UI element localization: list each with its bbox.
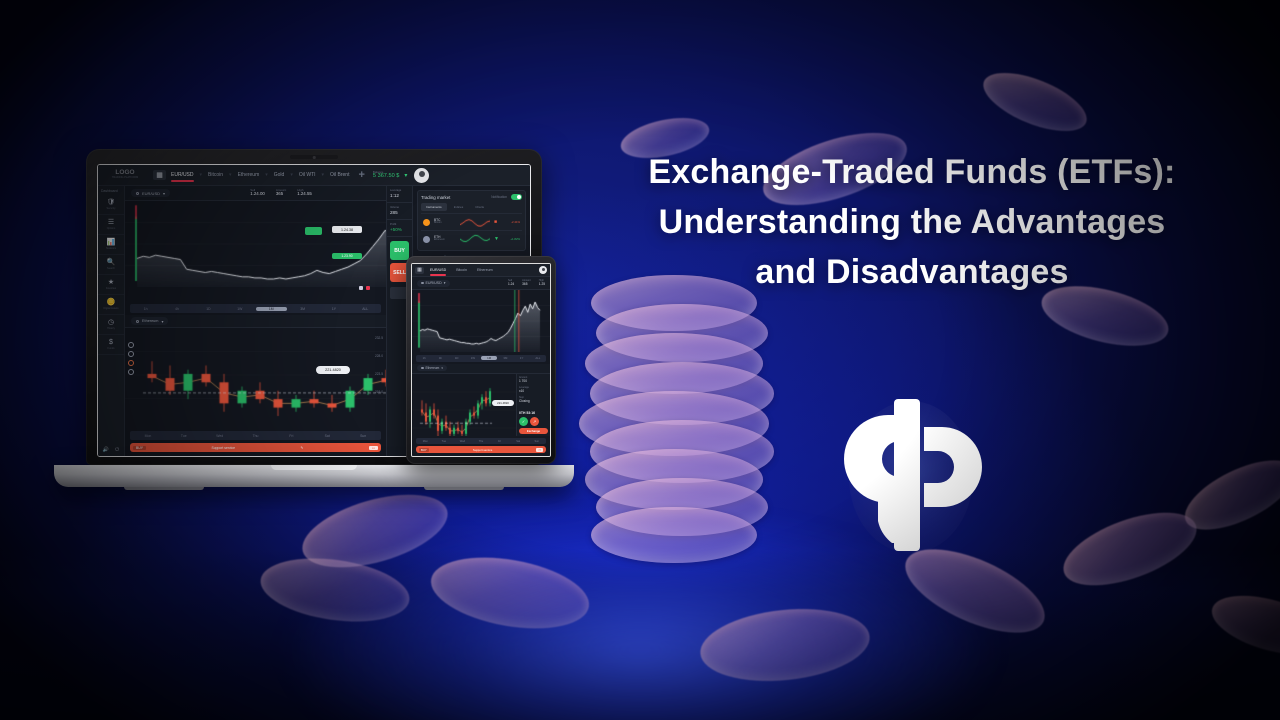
tablet-confirm-icon[interactable]: ✓ [519,417,528,426]
tablet-nav-item-ethereum[interactable]: Ethereum [477,268,493,272]
right-stat-value: 285 [390,210,409,215]
pair-label: EUR/USD [142,191,160,196]
dollar-sign-logo [840,385,982,565]
tablet-timeline-cell-3m[interactable]: 3M [497,356,513,360]
market-row-change: +1.82% [510,237,520,241]
candle-timeline-cell-fri[interactable]: Fri [273,434,309,438]
tablet-chevron2-icon: ▾ [441,366,443,370]
nav-item-oil-brent[interactable]: Oil Brent [330,172,349,178]
area-stat-high: High1.24.55 [297,189,312,197]
price-tag-top: 1.24.38 [332,226,362,233]
brand-subtitle: TRADING PLATFORM [112,177,138,180]
tablet-stat-value: x10 [519,389,548,393]
tablet-timeline-cell-1w[interactable]: 1W [465,356,481,360]
dot-red-icon [366,286,370,290]
candle-y-labels: 232.5228.0223.5219.0 [375,336,383,394]
stat-value: 1.24 [508,283,514,287]
tablet-candle-tl-cell-thu[interactable]: Thu [472,440,491,443]
sidebar-footer: 🔊 ⏻ [103,444,119,456]
sidebar-item-search[interactable]: 🔍Search [98,255,124,275]
add-instrument-button[interactable]: + [358,169,364,181]
chevron-down-icon: ▾ [163,191,165,196]
clock-icon: ◷ [108,319,114,326]
area-chart[interactable]: 1.24.38 1.23.90 [125,201,386,302]
market-row[interactable]: BTCBitcoin■-2.41% [421,213,522,230]
shield-icon: 🛡 [107,199,116,206]
tablet-right-stat-stop: StopClosing [519,396,548,403]
sidebar-item-options[interactable]: ☰Options [98,215,124,235]
candle-panel-header: Ethereum ▾ [125,315,386,328]
market-row-change: -2.41% [511,220,520,224]
candle-price-marker: 221.4820 [316,366,350,374]
sidebar: Dashboard 🛡Security☰Options📊Statistics🔍S… [98,186,125,456]
tablet-price-marker: 221.4820 [492,400,514,406]
buy-button[interactable]: BUY [390,241,409,260]
sidebar-item-statistics[interactable]: 📊Statistics [98,235,124,255]
timeline-cell-1d[interactable]: 1D [193,307,224,311]
tablet-nav-item-eur-usd[interactable]: EUR/USD [430,268,446,272]
timeline-cell-1y[interactable]: 1Y [318,307,349,311]
stat-value: 1.24.55 [297,192,312,197]
sidebar-item-history[interactable]: ◷History [98,315,124,335]
nav-separator: ▾ [229,172,232,178]
tablet-candle-chart[interactable]: 221.4820 [412,374,516,437]
timeline-cell-1h[interactable]: 1h [130,307,161,311]
candlestick-chart[interactable]: 221.4820 232.5228.0223.5219.0 [125,328,386,429]
list-icon: ☰ [108,219,114,226]
stack-coin [591,507,757,563]
title-line-3: and Disadvantages [556,248,1268,298]
tablet-chevron-icon: ▾ [444,281,446,285]
title-line-2: Understanding the Advantages [556,198,1268,248]
sidebar-item-label: Search [107,268,115,271]
area-stat-amount: Amount365 [276,189,286,197]
laptop-base [54,465,574,487]
tablet-timeline-cell-1d[interactable]: 1D [449,356,465,360]
market-row-name: BTCBitcoin [434,219,456,225]
brand-mark: LOGO [115,170,134,177]
tablet-device: ▦ EUR/USDBitcoinEthereum EUR/USD ▾ Sell1… [406,256,556,464]
candle-timeline-cell-thu[interactable]: Thu [238,434,274,438]
right-stat-value: +50% [390,227,409,232]
tool-circle-1-icon[interactable] [128,342,134,348]
nav-separator: ▾ [200,172,203,178]
tool-circle-2-icon[interactable] [128,351,134,357]
tablet-area-stat-amount: Amount365 [522,280,531,286]
market-row-sub: Bitcoin [434,222,456,225]
tablet-support-bar[interactable]: BUY Support service ▭ [416,446,546,453]
tablet-pair-dot2-icon [421,367,424,370]
candle-timeline-cell-sun[interactable]: Sun [345,434,381,438]
market-row[interactable]: ETHEthereum▼+1.82% [421,230,522,247]
trading-app-tablet: ▦ EUR/USDBitcoinEthereum EUR/USD ▾ Sell1… [412,264,550,456]
tablet-stat-value: Closing [519,399,548,403]
sidebar-items: 🛡Security☰Options📊Statistics🔍Search★Favo… [98,195,124,355]
tablet-right-stat-leverage: Leveragex10 [519,386,548,393]
tablet-timeline-cell-4h[interactable]: 4h [432,356,448,360]
tablet-area-header: EUR/USD ▾ Sell1.24Amount365High1.25 [412,277,550,290]
market-rows: BTCBitcoin■-2.41%ETHEthereum▼+1.82% [421,213,522,247]
close-icon[interactable]: ▭ [369,446,378,450]
y-axis-label: 219.0 [375,390,383,394]
candle-timeline-cell-sat[interactable]: Sat [309,434,345,438]
search-icon: 🔍 [107,259,116,266]
timeline-cell-1m[interactable]: 1M [256,307,287,311]
support-bar[interactable]: BUY Support service ✎ ▭ [130,443,381,452]
market-sparkline [460,234,490,244]
market-tab-charts[interactable]: Charts [470,203,489,211]
market-header: Trading market Notification [421,194,522,200]
nav-item-bitcoin[interactable]: Bitcoin [208,172,223,178]
sidebar-item-funds[interactable]: $Funds [98,335,124,355]
pair-label2: Ethereum [142,319,158,323]
webcam [290,155,338,159]
tablet-support-label: Support service [473,448,492,452]
tablet-pair-label: EUR/USD [426,281,442,285]
tablet-area-stat-sell: Sell1.24 [508,280,514,286]
drawing-tools[interactable] [128,342,134,375]
sidebar-item-favorites[interactable]: ★Favorites [98,275,124,295]
sidebar-heading: Dashboard [98,186,118,195]
tablet-exchange-button[interactable]: Exchange [519,428,548,434]
tablet-topbar: ▦ EUR/USDBitcoinEthereum [412,264,550,277]
area-panel-header: EUR/USD ▾ Sell1.24.00Amount365High1.24.5… [125,186,386,201]
tablet-timeline-cell-1m[interactable]: 1M [481,356,497,360]
price-tag-current [305,227,322,235]
tablet-timeline-cell-1h[interactable]: 1h [416,356,432,360]
power-icon[interactable]: ⏻ [115,447,119,453]
sidebar-item-label: Statistics [106,248,116,251]
poster-canvas: LOGO TRADING PLATFORM ▦ EUR/USD▾Bitcoin▾… [0,0,1280,720]
candle-timeline-cell-tue[interactable]: Tue [166,434,202,438]
tablet-timeline-cell-all[interactable]: ALL [530,356,546,360]
volume-icon[interactable]: 🔊 [103,447,109,453]
bar-chart-icon: 📊 [107,239,116,246]
right-stat-profit: Profit+50% [387,220,412,237]
brand-logo[interactable]: LOGO TRADING PLATFORM [102,170,148,179]
market-notify-label: Notification [491,195,507,199]
tool-circle-3-icon[interactable] [128,360,134,366]
tablet-candle-tl-cell-fri[interactable]: Fri [490,440,509,443]
tool-circle-4-icon[interactable] [128,369,134,375]
tablet-nav-item-bitcoin[interactable]: Bitcoin [456,268,467,272]
tablet-candle-tl-cell-sun[interactable]: Sun [527,440,546,443]
timeline-cell-3m[interactable]: 3M [287,307,318,311]
sidebar-item-label: History [107,328,115,331]
tablet-candle-tl-cell-tue[interactable]: Tue [435,440,454,443]
sidebar-item-label: Options [107,228,116,231]
sidebar-item-label: Favorites [106,288,116,291]
pair-dot2-icon [136,320,139,323]
right-stat-leverage: Leverage1:12 [387,186,412,203]
chevron-down2-icon: ▾ [161,319,163,324]
tablet-pair-label2: Ethereum [426,366,440,370]
support-label: Support service [211,446,235,450]
tablet-stat-value: 1 700 [519,379,548,383]
tablet-candle-tl-cell-wed[interactable]: Wed [453,440,472,443]
tablet-pair-dot-icon [421,282,424,285]
nav-item-gold[interactable]: Gold [274,172,285,178]
star-icon: ★ [108,279,114,286]
tablet-area-timeline[interactable]: 1h4h1D1W1M3M1YALL [416,355,546,362]
market-sparkline [460,217,490,227]
tablet-candle-header: Ethereum ▾ [412,364,550,374]
trend-down-icon: ■ [494,219,497,225]
area-stat-sell: Sell1.24.00 [250,189,265,197]
area-stats: Sell1.24.00Amount365High1.24.55 [250,189,312,197]
page-title: Exchange-Traded Funds (ETFs): Understand… [556,148,1268,298]
stat-value: 365 [276,192,286,197]
timeline-cell-4h[interactable]: 4h [161,307,192,311]
balance-display: Balance 5 367.50 $ [373,171,399,180]
tablet-lower: 221.4820 Amount1 700Leveragex10StopClosi… [412,374,550,437]
tablet-arrow-icon[interactable]: ↗ [530,417,539,426]
pair-selector-area[interactable]: EUR/USD ▾ [131,189,170,197]
market-title: Trading market [421,195,450,200]
eth-icon [423,236,430,243]
pair-dot-icon [136,192,139,195]
trend-up-icon: ▼ [494,236,499,242]
y-axis-label: 228.0 [375,354,383,358]
stat-value: 365 [522,283,531,287]
btc-icon [423,219,430,226]
timeline-cell-all[interactable]: ALL [350,307,381,311]
nav-separator: ▾ [265,172,268,178]
sidebar-item-label: Security [106,208,115,211]
avatar-head-icon [419,171,425,177]
stat-value: 1.24.00 [250,192,265,197]
app-topbar: LOGO TRADING PLATFORM ▦ EUR/USD▾Bitcoin▾… [98,165,530,186]
tablet-timer: 0TH 53:16 [519,411,548,415]
sidebar-item-security[interactable]: 🛡Security [98,195,124,215]
avatar-tablet[interactable] [539,266,547,274]
right-stat-volume: Volume285 [387,203,412,220]
candle-timeline-cell-mon[interactable]: Mon [130,434,166,438]
tablet-candle-tl-cell-sat[interactable]: Sat [509,440,528,443]
title-line-1: Exchange-Traded Funds (ETFs): [556,148,1268,198]
candle-timeline-cell-wed[interactable]: Wed [202,434,238,438]
tablet-screen: ▦ EUR/USDBitcoinEthereum EUR/USD ▾ Sell1… [411,263,551,457]
price-tag-bottom: 1.23.90 [332,253,362,259]
nav-item-oil-wti[interactable]: Oil WTI [299,172,316,178]
trading-market-panel: Trading market Notification InstrumentsI… [417,190,526,251]
tablet-timeline-cell-1y[interactable]: 1Y [514,356,530,360]
notify-toggle[interactable] [511,194,522,200]
market-tabs[interactable]: InstrumentsIndicesCharts [421,203,522,211]
tablet-area-chart[interactable] [412,290,550,353]
sidebar-item-digital-assets[interactable]: 🪙Digital Assets [98,295,124,315]
tablet-area-stats: Sell1.24Amount365High1.25 [508,280,545,286]
market-tab-indices[interactable]: Indices [449,203,469,211]
nav-separator: ▾ [290,172,293,178]
timeline-cell-1w[interactable]: 1W [224,307,255,311]
main-content: EUR/USD ▾ Sell1.24.00Amount365High1.24.5… [125,186,386,456]
tablet-area-stat-high: High1.25 [539,280,545,286]
laptop-foot-right [424,487,504,490]
laptop-foot-left [124,487,204,490]
y-axis-label: 223.5 [375,372,383,376]
tablet-candle-timeline[interactable]: MonTueWedThuFriSatSun [416,438,546,444]
grid-icon-tablet[interactable]: ▦ [415,267,424,274]
laptop-notch [271,465,357,470]
balance-value: 5 367.50 $ [373,174,399,180]
chart-dots [359,286,370,290]
market-row-sub: Ethereum [434,239,456,242]
candle-timeline[interactable]: MonTueWedThuFriSatSun [130,431,381,440]
nav-separator: ▾ [322,172,325,178]
tablet-nav-items: EUR/USDBitcoinEthereum [430,268,493,272]
sidebar-item-label: Funds [108,348,115,351]
coin-stack [575,275,780,575]
right-stat-value: 1:12 [390,193,409,198]
tablet-pair-selector[interactable]: EUR/USD ▾ [417,280,450,287]
nav-items: EUR/USD▾Bitcoin▾Ethereum▾Gold▾Oil WTI▾Oi… [171,172,349,178]
right-stats: Leverage1:12Volume285Profit+50% [387,186,412,237]
pencil-icon[interactable]: ✎ [300,446,303,450]
tablet-candle-tl-cell-mon[interactable]: Mon [416,440,435,443]
sidebar-item-label: Digital Assets [103,308,118,311]
grid-icon[interactable]: ▦ [153,170,166,180]
pair-selector-candle[interactable]: Ethereum ▾ [131,317,168,325]
nav-item-ethereum[interactable]: Ethereum [238,172,260,178]
market-row-name: ETHEthereum [434,236,456,242]
avatar[interactable] [414,168,429,183]
dot-white-icon [359,286,363,290]
dollar-icon: $ [109,339,113,346]
support-tag: BUY [133,446,146,450]
market-tab-instruments[interactable]: Instruments [421,203,447,211]
tablet-support-tag: BUY [419,448,429,452]
coin-stack-icon: 🪙 [107,299,116,306]
tablet-close-icon[interactable]: ▭ [536,448,543,452]
y-axis-label: 232.5 [375,336,383,340]
area-timeline[interactable]: 1h4h1D1W1M3M1YALL [130,304,381,313]
tablet-pair-selector-2[interactable]: Ethereum ▾ [417,365,447,371]
tablet-right-stat-amount: Amount1 700 [519,376,548,383]
stat-value: 1.25 [539,283,545,287]
avatar-head-tablet-icon [542,268,545,271]
nav-item-eur-usd[interactable]: EUR/USD [171,172,194,178]
balance-caret-icon: ▾ [404,172,407,179]
tablet-right-stats: Amount1 700Leveragex10StopClosing 0TH 53… [516,374,550,437]
